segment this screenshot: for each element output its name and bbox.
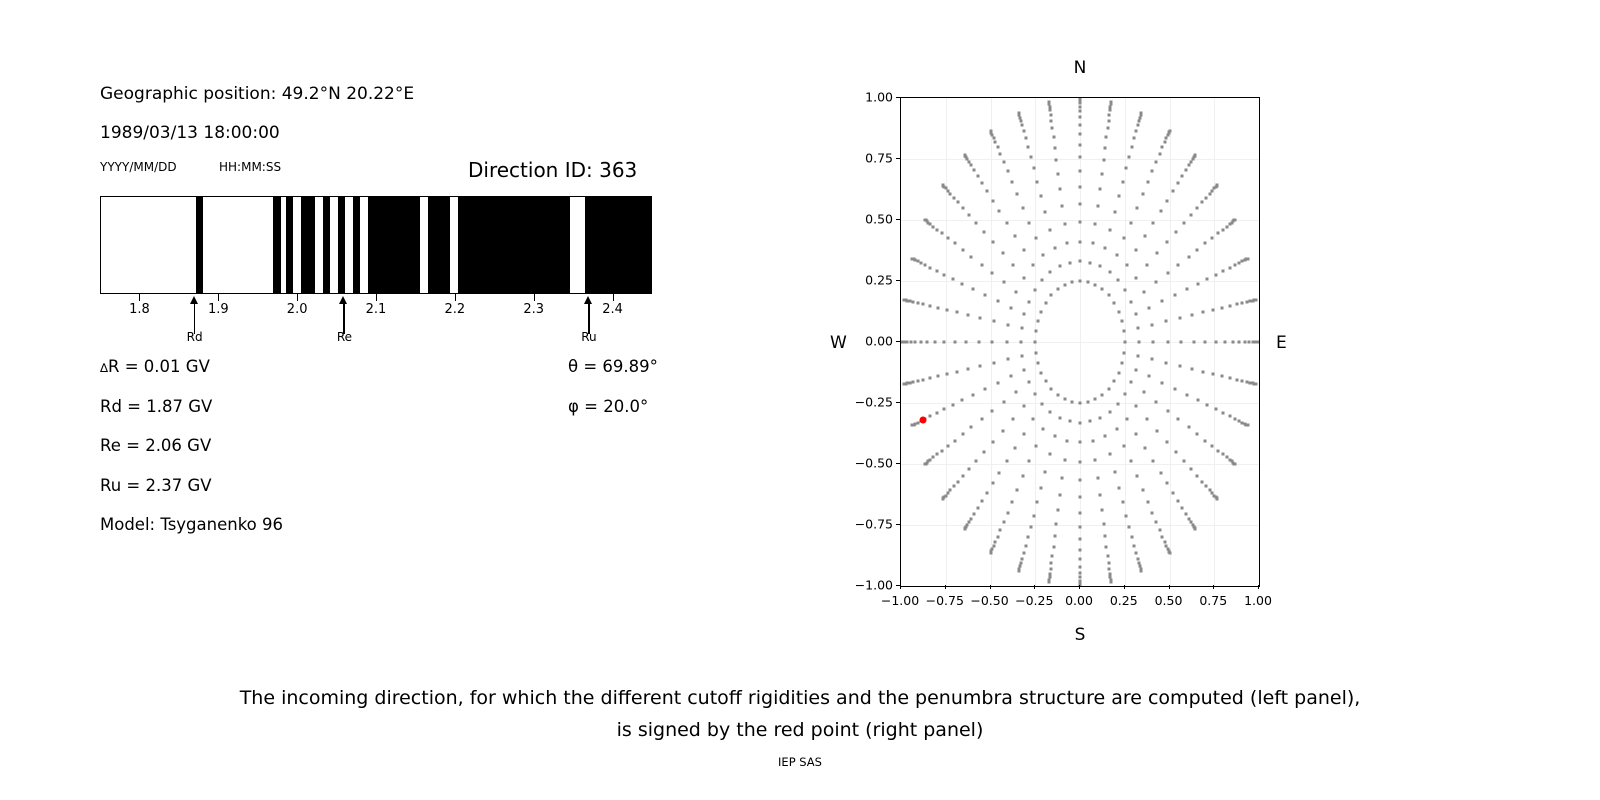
direction-point — [1211, 237, 1214, 240]
direction-point — [1026, 536, 1029, 539]
rigidity-tick — [613, 294, 614, 301]
direction-point — [1189, 467, 1192, 470]
direction-point — [991, 409, 994, 412]
direction-point — [983, 231, 986, 234]
direction-point — [1079, 495, 1082, 498]
x-tick-label: 0.00 — [1065, 593, 1093, 608]
direction-point — [1202, 311, 1205, 314]
direction-point — [1091, 439, 1094, 442]
direction-point — [998, 471, 1001, 474]
direction-point — [1155, 160, 1158, 163]
direction-point — [1195, 474, 1198, 477]
direction-point — [1138, 119, 1141, 122]
direction-point — [1174, 450, 1177, 453]
direction-id-label: Direction ID: 363 — [468, 158, 637, 182]
direction-point — [1022, 475, 1025, 478]
direction-point — [994, 540, 997, 543]
parameter-Re: Re = 2.06 GV — [100, 436, 211, 455]
direction-point — [1166, 199, 1169, 202]
direction-point — [922, 303, 925, 306]
direction-point — [952, 196, 955, 199]
direction-point — [1154, 281, 1157, 284]
rigidity-tick-label: 2.1 — [366, 302, 387, 317]
direction-point — [1243, 341, 1246, 344]
direction-point — [1116, 402, 1119, 405]
direction-point — [1053, 435, 1056, 438]
direction-point — [970, 426, 973, 429]
direction-point — [1125, 514, 1128, 517]
direction-point — [1166, 272, 1169, 275]
direction-point — [1063, 283, 1066, 286]
x-tick-label: −1.00 — [881, 593, 919, 608]
parameter-Rd: Rd = 1.87 GV — [100, 397, 212, 416]
direction-point — [1187, 517, 1190, 520]
direction-point — [1194, 154, 1197, 157]
direction-point — [1104, 435, 1107, 438]
direction-point — [1212, 308, 1215, 311]
penumbra-band — [273, 197, 281, 293]
direction-point — [1021, 124, 1024, 127]
direction-point — [1121, 361, 1124, 364]
direction-point — [941, 232, 944, 235]
direction-point — [1079, 571, 1082, 574]
direction-point — [1061, 476, 1064, 479]
direction-point — [1151, 358, 1154, 361]
direction-point — [1129, 221, 1132, 224]
direction-point — [1036, 320, 1039, 323]
direction-point — [1124, 392, 1127, 395]
direction-point — [1174, 231, 1177, 234]
direction-point — [1044, 301, 1047, 304]
direction-point — [1066, 439, 1069, 442]
compass-label-south: S — [1075, 625, 1086, 645]
penumbra-band — [196, 197, 203, 293]
direction-point — [1190, 314, 1193, 317]
direction-point — [1101, 288, 1104, 291]
penumbra-band — [323, 197, 331, 293]
direction-point — [1079, 280, 1082, 283]
direction-point — [1205, 196, 1208, 199]
direction-point — [962, 474, 965, 477]
direction-point — [1001, 252, 1004, 255]
direction-point — [1021, 557, 1024, 560]
direction-point — [1122, 444, 1125, 447]
direction-point — [1185, 393, 1188, 396]
direction-point — [1133, 545, 1136, 548]
direction-point — [1099, 265, 1102, 268]
x-tick-mark — [1079, 585, 1080, 589]
direction-point — [1042, 254, 1045, 257]
direction-point — [1089, 420, 1092, 423]
direction-point — [980, 181, 983, 184]
direction-point — [1066, 242, 1069, 245]
direction-point — [943, 273, 946, 276]
direction-point — [1255, 298, 1258, 301]
direction-point — [1195, 207, 1198, 210]
direction-point — [1171, 492, 1174, 495]
direction-point — [1044, 380, 1047, 383]
direction-point — [1053, 535, 1056, 538]
direction-point — [1159, 210, 1162, 213]
direction-point — [1144, 235, 1147, 238]
direction-point — [1135, 276, 1138, 279]
direction-point — [1238, 341, 1241, 344]
direction-point — [1022, 552, 1025, 555]
direction-point — [1121, 501, 1124, 504]
direction-point — [1079, 221, 1082, 224]
x-tick-mark — [1258, 585, 1259, 589]
direction-point — [1229, 377, 1232, 380]
direction-point — [1174, 388, 1177, 391]
direction-point — [1013, 446, 1016, 449]
direction-point — [1126, 417, 1129, 420]
direction-point — [1027, 300, 1030, 303]
direction-point — [1189, 214, 1192, 217]
direction-point — [1204, 242, 1207, 245]
direction-point — [1156, 429, 1159, 432]
direction-point — [1063, 223, 1066, 226]
direction-point — [1104, 246, 1107, 249]
direction-point — [1180, 341, 1183, 344]
direction-point — [1204, 341, 1207, 344]
direction-point — [1019, 119, 1022, 122]
direction-point — [934, 341, 937, 344]
direction-point — [1234, 463, 1237, 466]
direction-point — [1190, 160, 1193, 163]
direction-point — [1206, 404, 1209, 407]
direction-point — [1108, 113, 1111, 116]
direction-point — [1140, 570, 1143, 573]
direction-point — [1115, 254, 1118, 257]
direction-point — [1024, 545, 1027, 548]
direction-point — [919, 341, 922, 344]
footer-credit: IEP SAS — [0, 755, 1600, 769]
direction-point — [979, 317, 982, 320]
direction-point — [996, 535, 999, 538]
direction-point — [1079, 170, 1082, 173]
parameter-delta-R: ∆R = 0.01 GV — [100, 357, 210, 376]
direction-point — [1106, 554, 1109, 557]
direction-point — [1017, 570, 1020, 573]
rigidity-tick-label: 2.0 — [287, 302, 308, 317]
direction-point — [1032, 167, 1035, 170]
direction-point — [980, 418, 983, 421]
direction-point — [991, 440, 994, 443]
direction-point — [980, 263, 983, 266]
direction-point — [1135, 405, 1138, 408]
direction-point — [1187, 426, 1190, 429]
rigidity-tick — [139, 294, 140, 301]
direction-point — [1161, 535, 1164, 538]
direction-point — [1212, 373, 1215, 376]
direction-point — [953, 242, 956, 245]
y-tick-label: −0.25 — [838, 395, 893, 410]
rigidity-axis: 1.81.92.02.12.22.32.4 — [100, 294, 652, 304]
y-tick-mark — [896, 158, 900, 159]
penumbra-panel: Geographic position: 49.2°N 20.22°E 1989… — [0, 0, 760, 620]
direction-point — [1027, 381, 1030, 384]
direction-point — [1040, 195, 1043, 198]
direction-point — [951, 404, 954, 407]
direction-point — [1002, 160, 1005, 163]
parameter-text: Re = 2.06 GV — [100, 436, 211, 455]
rigidity-tick-label: 1.8 — [129, 302, 150, 317]
direction-point — [1096, 476, 1099, 479]
x-tick-label: −0.75 — [926, 593, 964, 608]
direction-point — [1123, 351, 1126, 354]
direction-point — [1107, 562, 1110, 565]
direction-point — [1104, 146, 1107, 149]
y-tick-label: 0.25 — [838, 273, 893, 288]
direction-point — [1135, 432, 1138, 435]
direction-point — [909, 341, 912, 344]
direction-point — [1023, 313, 1026, 316]
direction-point — [1022, 276, 1025, 279]
direction-point — [1241, 380, 1244, 383]
y-tick-mark — [896, 402, 900, 403]
direction-point — [1255, 383, 1258, 386]
direction-point — [1010, 375, 1013, 378]
compass-label-north: N — [1074, 58, 1087, 78]
direction-point — [1192, 341, 1195, 344]
direction-point — [1024, 136, 1027, 139]
direction-point — [1222, 412, 1225, 415]
direction-point — [1208, 192, 1211, 195]
gridline-horizontal — [901, 464, 1259, 465]
direction-point — [945, 308, 948, 311]
direction-point — [1177, 263, 1180, 266]
direction-point — [1061, 205, 1064, 208]
direction-point — [1049, 453, 1052, 456]
direction-point — [1165, 361, 1168, 364]
direction-point — [973, 513, 976, 516]
x-tick-mark — [1169, 585, 1170, 589]
caption-line-1: The incoming direction, for which the di… — [0, 682, 1600, 714]
x-tick-label: 0.25 — [1110, 593, 1138, 608]
direction-point — [1041, 279, 1044, 282]
direction-point — [967, 314, 970, 317]
figure-caption: The incoming direction, for which the di… — [0, 682, 1600, 746]
direction-point — [1138, 341, 1141, 344]
direction-point — [1057, 509, 1060, 512]
direction-point — [1100, 172, 1103, 175]
direction-point — [1235, 303, 1238, 306]
direction-point — [1011, 500, 1014, 503]
direction-point — [1079, 105, 1082, 108]
direction-point — [1136, 557, 1139, 560]
direction-point — [1010, 306, 1013, 309]
y-tick-mark — [896, 219, 900, 220]
selected-direction-marker[interactable] — [920, 416, 927, 423]
direction-point — [1031, 417, 1034, 420]
parameter-text: R = 0.01 GV — [108, 357, 210, 376]
direction-point — [1152, 459, 1155, 462]
direction-point — [1229, 304, 1232, 307]
compass-label-east: E — [1276, 333, 1287, 353]
direction-point — [1005, 222, 1008, 225]
direction-point — [1221, 453, 1224, 456]
direction-point — [1068, 261, 1071, 264]
penumbra-band — [585, 197, 652, 293]
direction-point — [1166, 341, 1169, 344]
direction-point — [1130, 300, 1133, 303]
direction-point — [1147, 375, 1150, 378]
direction-point — [1019, 341, 1022, 344]
direction-point — [1099, 416, 1102, 419]
y-tick-mark — [896, 341, 900, 342]
direction-point — [1015, 391, 1018, 394]
direction-point — [1002, 521, 1005, 524]
direction-point — [1107, 119, 1110, 122]
direction-point — [1196, 282, 1199, 285]
direction-point — [1137, 327, 1140, 330]
y-tick-mark — [896, 463, 900, 464]
direction-point — [991, 272, 994, 275]
direction-point — [1041, 402, 1044, 405]
rigidity-tick — [534, 294, 535, 301]
direction-point — [1151, 323, 1154, 326]
direction-point — [1152, 222, 1155, 225]
direction-point — [912, 381, 915, 384]
penumbra-band — [368, 197, 421, 293]
direction-point — [1184, 513, 1187, 516]
direction-point — [902, 383, 905, 386]
direction-point — [963, 527, 966, 530]
direction-point — [1216, 232, 1219, 235]
direction-point — [1128, 155, 1131, 158]
direction-point — [970, 164, 973, 167]
direction-point — [1049, 109, 1052, 112]
direction-point — [1108, 109, 1111, 112]
direction-point — [1035, 444, 1038, 447]
x-tick-label: 0.50 — [1155, 593, 1183, 608]
direction-point — [991, 341, 994, 344]
direction-point — [1040, 310, 1043, 313]
y-tick-label: 1.00 — [838, 90, 893, 105]
direction-point — [1050, 387, 1053, 390]
direction-point — [1108, 228, 1111, 231]
time-format-hint: HH:MM:SS — [219, 160, 281, 174]
y-tick-mark — [896, 280, 900, 281]
direction-point — [1125, 167, 1128, 170]
x-tick-mark — [1124, 585, 1125, 589]
direction-point — [1031, 264, 1034, 267]
direction-point — [1205, 485, 1208, 488]
direction-point — [967, 160, 970, 163]
direction-point — [1190, 367, 1193, 370]
direction-point — [1151, 511, 1154, 514]
direction-point — [1006, 323, 1009, 326]
direction-point — [1181, 507, 1184, 510]
direction-point — [961, 248, 964, 251]
direction-point — [1214, 341, 1217, 344]
direction-point — [1241, 301, 1244, 304]
direction-point — [928, 377, 931, 380]
direction-point — [916, 380, 919, 383]
direction-point — [1124, 289, 1127, 292]
direction-point — [1107, 387, 1110, 390]
direction-point — [972, 288, 975, 291]
rigidity-tick-label: 2.2 — [445, 302, 466, 317]
direction-point — [956, 480, 959, 483]
direction-point — [1079, 240, 1082, 243]
direction-point — [1051, 554, 1054, 557]
rigidity-marker-label-re: Re — [337, 330, 352, 344]
direction-point — [936, 375, 939, 378]
direction-point — [1022, 249, 1025, 252]
direction-point — [975, 459, 978, 462]
direction-point — [1022, 206, 1025, 209]
direction-point — [1165, 320, 1168, 323]
direction-point — [1040, 371, 1043, 374]
direction-point — [924, 264, 927, 267]
datetime-label: 1989/03/13 18:00:00 — [100, 123, 280, 143]
direction-point — [1185, 288, 1188, 291]
rigidity-tick-label: 1.9 — [208, 302, 229, 317]
direction-point — [1108, 568, 1111, 571]
direction-point — [916, 301, 919, 304]
direction-point — [1146, 264, 1149, 267]
direction-point — [923, 219, 926, 222]
direction-point — [1079, 97, 1082, 100]
direction-point — [968, 467, 971, 470]
direction-point — [1079, 558, 1082, 561]
direction-point — [1020, 327, 1023, 330]
y-tick-label: 0.75 — [838, 151, 893, 166]
direction-point — [1141, 488, 1144, 491]
direction-point — [914, 341, 917, 344]
direction-point — [1144, 446, 1147, 449]
direction-point — [1223, 341, 1226, 344]
direction-point — [1142, 290, 1145, 293]
direction-point — [976, 174, 979, 177]
rigidity-tick — [297, 294, 298, 301]
direction-point — [1053, 246, 1056, 249]
direction-point — [965, 341, 968, 344]
direction-point — [1131, 145, 1134, 148]
parameter-model: Model: Tsyganenko 96 — [100, 515, 283, 534]
direction-point — [1079, 116, 1082, 119]
direction-point — [929, 415, 932, 418]
direction-point — [922, 378, 925, 381]
direction-point — [1094, 458, 1097, 461]
direction-point — [1234, 219, 1237, 222]
direction-point — [1113, 211, 1116, 214]
direction-point — [991, 241, 994, 244]
direction-point — [1055, 159, 1058, 162]
direction-point — [976, 507, 979, 510]
direction-point — [928, 304, 931, 307]
direction-point — [1102, 522, 1105, 525]
direction-point — [1154, 400, 1157, 403]
direction-point — [1163, 141, 1166, 144]
direction-point — [1135, 206, 1138, 209]
y-tick-mark — [896, 97, 900, 98]
direction-point — [1071, 280, 1074, 283]
direction-point — [1123, 341, 1126, 344]
direction-point — [1166, 482, 1169, 485]
direction-point — [1171, 189, 1174, 192]
direction-point — [1233, 264, 1236, 267]
direction-point — [983, 450, 986, 453]
parameter-theta: θ = 69.89° — [568, 357, 658, 376]
x-tick-mark — [990, 585, 991, 589]
direction-point — [1053, 146, 1056, 149]
direction-point — [1094, 398, 1097, 401]
direction-point — [1020, 354, 1023, 357]
direction-point — [977, 341, 980, 344]
direction-point — [1051, 127, 1054, 130]
